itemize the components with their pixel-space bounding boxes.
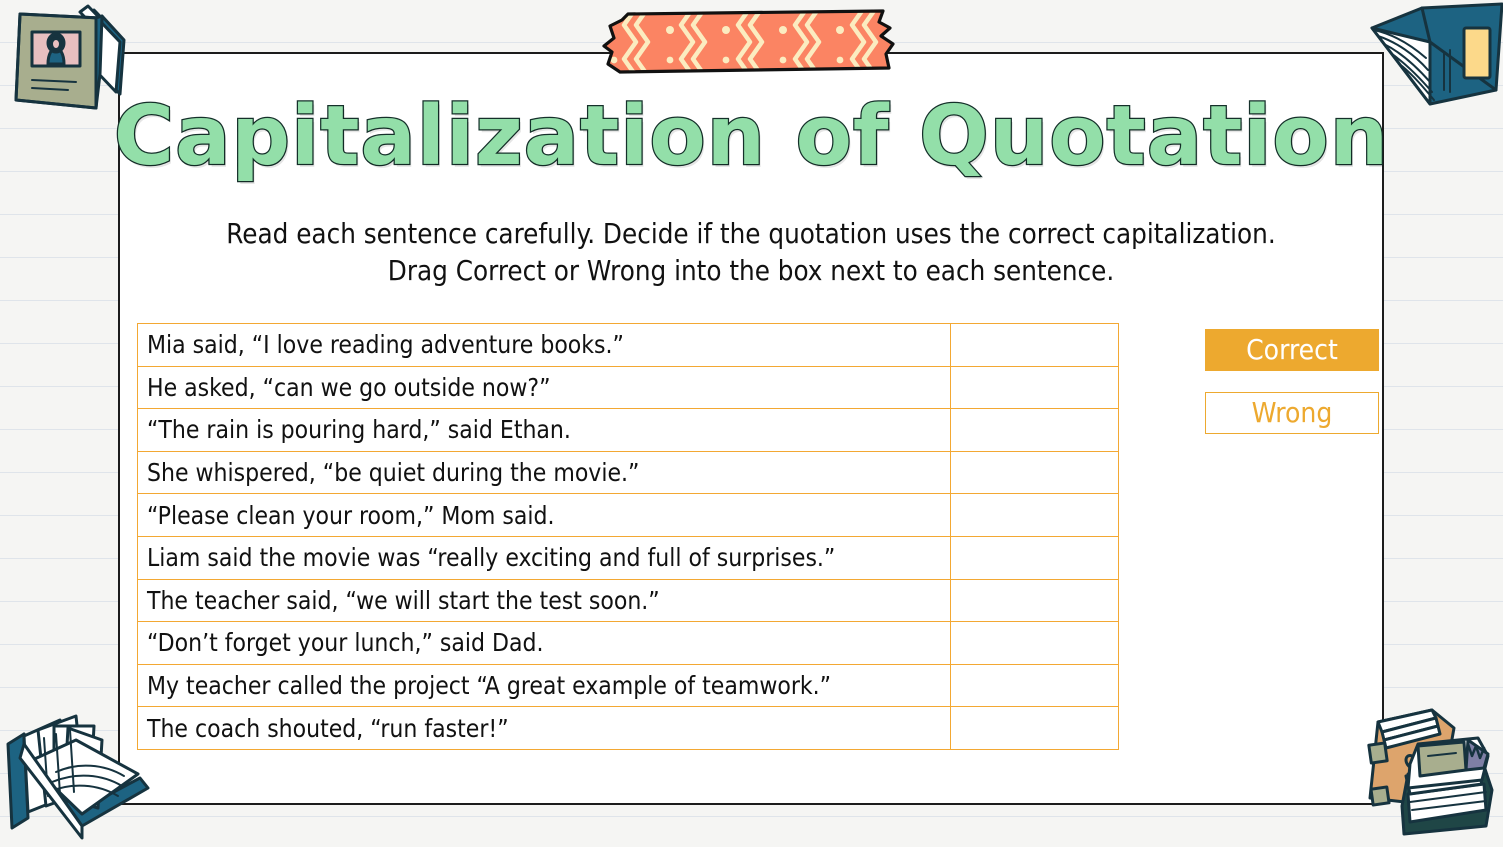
answer-dropzone[interactable] xyxy=(951,622,1119,665)
answer-dropzone[interactable] xyxy=(951,451,1119,494)
answer-dropzone[interactable] xyxy=(951,324,1119,367)
sentence-text: “Don’t forget your lunch,” said Dad. xyxy=(138,622,951,665)
answer-dropzone[interactable] xyxy=(951,707,1119,750)
sentence-text: He asked, “can we go outside now?” xyxy=(138,366,951,409)
answer-dropzone[interactable] xyxy=(951,494,1119,537)
instructions: Read each sentence carefully. Decide if … xyxy=(130,216,1372,290)
answer-dropzone[interactable] xyxy=(951,536,1119,579)
washi-tape-decoration xyxy=(598,8,898,76)
table-row: The teacher said, “we will start the tes… xyxy=(138,579,1119,622)
sentence-text: The teacher said, “we will start the tes… xyxy=(138,579,951,622)
sentence-text: My teacher called the project “A great e… xyxy=(138,664,951,707)
page-title: Capitalization of Quotation xyxy=(0,96,1503,178)
answer-bank: Correct Wrong xyxy=(1205,329,1381,434)
instructions-line-1: Read each sentence carefully. Decide if … xyxy=(130,216,1372,253)
table-row: The coach shouted, “run faster!” xyxy=(138,707,1119,750)
sentence-table: Mia said, “I love reading adventure book… xyxy=(137,323,1119,750)
table-row: “Please clean your room,” Mom said. xyxy=(138,494,1119,537)
closed-teal-book-icon xyxy=(1352,0,1503,116)
wrong-chip[interactable]: Wrong xyxy=(1205,392,1379,434)
sentence-text: Liam said the movie was “really exciting… xyxy=(138,536,951,579)
table-row: Mia said, “I love reading adventure book… xyxy=(138,324,1119,367)
sentence-text: Mia said, “I love reading adventure book… xyxy=(138,324,951,367)
correct-chip[interactable]: Correct xyxy=(1205,329,1379,371)
table-row: She whispered, “be quiet during the movi… xyxy=(138,451,1119,494)
open-book-icon xyxy=(0,700,158,847)
open-book-with-portrait-icon xyxy=(0,0,136,128)
table-row: “The rain is pouring hard,” said Ethan. xyxy=(138,409,1119,452)
worksheet-page: Capitalization of Quotation Read each se… xyxy=(0,0,1503,847)
table-row: He asked, “can we go outside now?” xyxy=(138,366,1119,409)
table-row: Liam said the movie was “really exciting… xyxy=(138,536,1119,579)
instructions-line-2: Drag Correct or Wrong into the box next … xyxy=(130,253,1372,290)
sentence-text: The coach shouted, “run faster!” xyxy=(138,707,951,750)
table-row: “Don’t forget your lunch,” said Dad. xyxy=(138,622,1119,665)
stack-of-books-icon xyxy=(1336,698,1503,847)
answer-dropzone[interactable] xyxy=(951,664,1119,707)
sentence-text: She whispered, “be quiet during the movi… xyxy=(138,451,951,494)
answer-dropzone[interactable] xyxy=(951,579,1119,622)
sentence-text: “Please clean your room,” Mom said. xyxy=(138,494,951,537)
answer-dropzone[interactable] xyxy=(951,409,1119,452)
table-row: My teacher called the project “A great e… xyxy=(138,664,1119,707)
sentence-text: “The rain is pouring hard,” said Ethan. xyxy=(138,409,951,452)
answer-dropzone[interactable] xyxy=(951,366,1119,409)
